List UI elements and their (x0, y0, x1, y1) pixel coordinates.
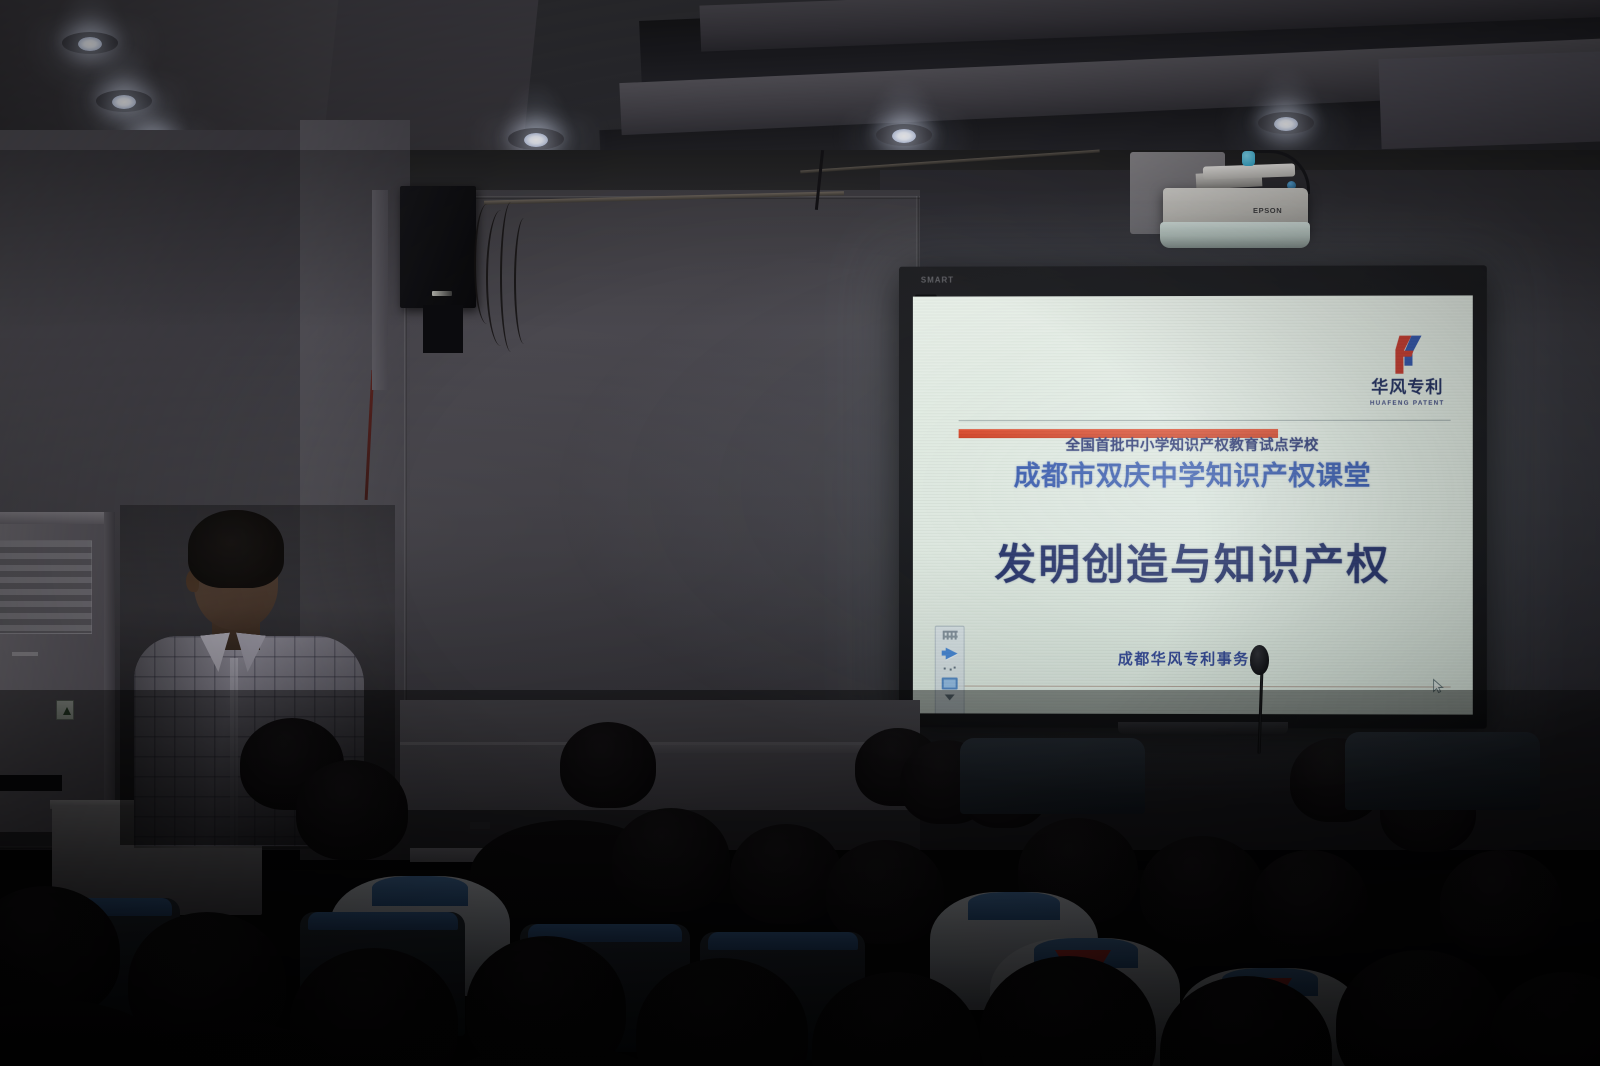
slide-divider-top (959, 420, 1451, 421)
speaker-brand-badge (432, 291, 452, 296)
audience-head (1252, 850, 1368, 952)
ceiling-edge-right (1379, 51, 1600, 149)
slide-divider-bottom (959, 686, 1451, 688)
slide-school-title: 成都市双庆中学知识产权课堂 (913, 454, 1473, 493)
seat-trim (308, 912, 458, 930)
audience (0, 700, 1600, 1066)
uniform-collar (968, 892, 1060, 920)
audience-head (1140, 836, 1264, 944)
huafeng-f-mark-icon (1381, 332, 1433, 378)
projector-brand-label: EPSON (1253, 206, 1282, 215)
grid-icon[interactable] (942, 631, 957, 640)
huafeng-logo: 华风专利 HUAFENG PATENT (1370, 332, 1445, 407)
speaker-mount-plate (423, 305, 463, 353)
speaker-bracket (372, 190, 388, 390)
screen-icon[interactable] (942, 678, 958, 690)
audience-head (730, 824, 842, 924)
audience-head (612, 808, 730, 912)
audience-head (826, 840, 944, 944)
audience-head (1440, 850, 1562, 956)
projector-lens-hood (1160, 222, 1310, 248)
microphone-icon (1250, 645, 1269, 675)
board-brand-label: SMART (921, 276, 954, 285)
air-conditioner-label (12, 652, 38, 656)
audience-head (296, 760, 408, 860)
projection-screen[interactable]: 华风专利 HUAFENG PATENT 全国首批中小学知识产权教育试点学校 成都… (913, 295, 1473, 714)
mouse-pointer-icon (1433, 678, 1444, 693)
interactive-whiteboard[interactable]: SMART 华风专利 HUAFENG PATENT 全国首批中小学知识产权教育试… (899, 265, 1487, 728)
projector-blue-knob-icon (1242, 151, 1255, 166)
audience-head (1490, 972, 1600, 1066)
presenter-hair (188, 510, 284, 588)
slide-main-title: 发明创造与知识产权 (913, 531, 1473, 592)
logo-english-text: HUAFENG PATENT (1370, 399, 1445, 406)
logo-chinese-text: 华风专利 (1371, 380, 1443, 397)
auditorium-seat (960, 738, 1145, 814)
audience-head (1336, 950, 1504, 1066)
speaker-cables (470, 200, 540, 360)
air-conditioner-grille (0, 540, 92, 634)
audience-head (560, 722, 656, 808)
classroom-photo-scene: EPSON SMART 华风专利 HUAFENG PATENT 全国首批中小学知… (0, 0, 1600, 1066)
wall-speaker (400, 186, 476, 308)
auditorium-seat (1345, 732, 1540, 810)
dots-icon[interactable] (942, 666, 958, 673)
slide-organization: 成都华风专利事务所 (913, 648, 1473, 670)
slide-subtitle: 全国首批中小学知识产权教育试点学校 (913, 434, 1473, 455)
air-conditioner-top (0, 512, 114, 524)
seat-trim (708, 932, 858, 950)
uniform-collar (372, 876, 468, 906)
